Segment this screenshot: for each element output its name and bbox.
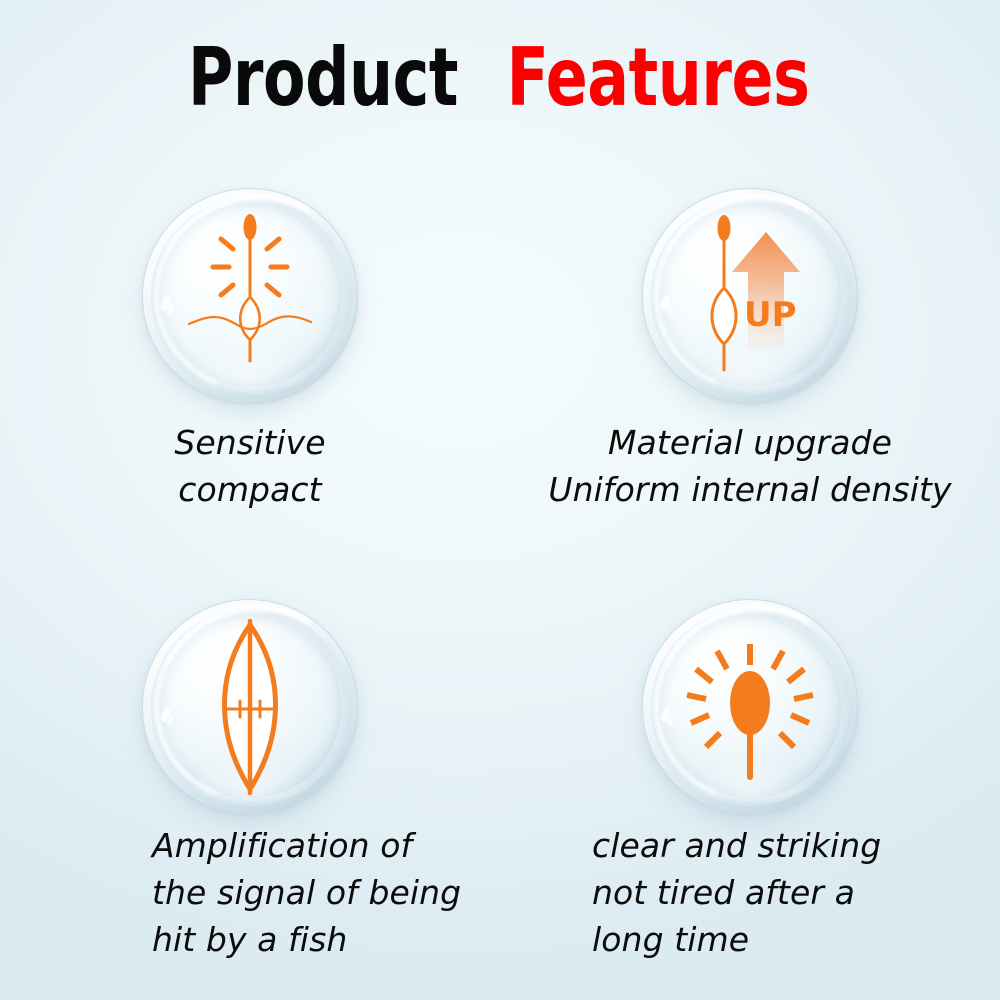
caption-line: Material upgrade [500, 420, 1000, 467]
feature-grid: Sensitive compact [0, 170, 1000, 1000]
glass-sphere-sensitive [142, 188, 358, 404]
product-features-poster: ProductFeatures [0, 0, 1000, 1000]
glass-sphere-amplification [142, 599, 358, 815]
feature-card-clear-striking: clear and striking not tired after a lon… [500, 585, 1000, 1000]
float-sensitivity-icon [142, 188, 358, 404]
caption-line: clear and striking [592, 823, 1000, 870]
feature-card-material-upgrade: UP Material upgrade Uniform intern [500, 170, 1000, 585]
feature-card-sensitive: Sensitive compact [0, 170, 500, 585]
glass-sphere-clear-striking [642, 599, 858, 815]
page-title: ProductFeatures [0, 38, 1000, 118]
float-amplification-icon [142, 599, 358, 815]
caption-line: Uniform internal density [500, 467, 1000, 514]
feature-caption-sensitive: Sensitive compact [0, 420, 500, 514]
caption-line: Sensitive [0, 420, 500, 467]
caption-line: compact [0, 467, 500, 514]
up-arrow-label: UP [744, 295, 797, 335]
float-up-arrow-icon: UP [642, 188, 858, 404]
float-bright-rays-icon [642, 599, 858, 815]
feature-caption-material-upgrade: Material upgrade Uniform internal densit… [500, 420, 1000, 514]
page-title-primary: Product [188, 38, 458, 118]
glass-sphere-material-upgrade: UP [642, 188, 858, 404]
caption-line: long time [592, 917, 1000, 964]
caption-line: not tired after a [592, 870, 1000, 917]
page-title-accent: Features [507, 38, 810, 118]
feature-card-amplification: Amplification of the signal of being hit… [0, 585, 500, 1000]
feature-caption-clear-striking: clear and striking not tired after a lon… [500, 823, 1000, 964]
